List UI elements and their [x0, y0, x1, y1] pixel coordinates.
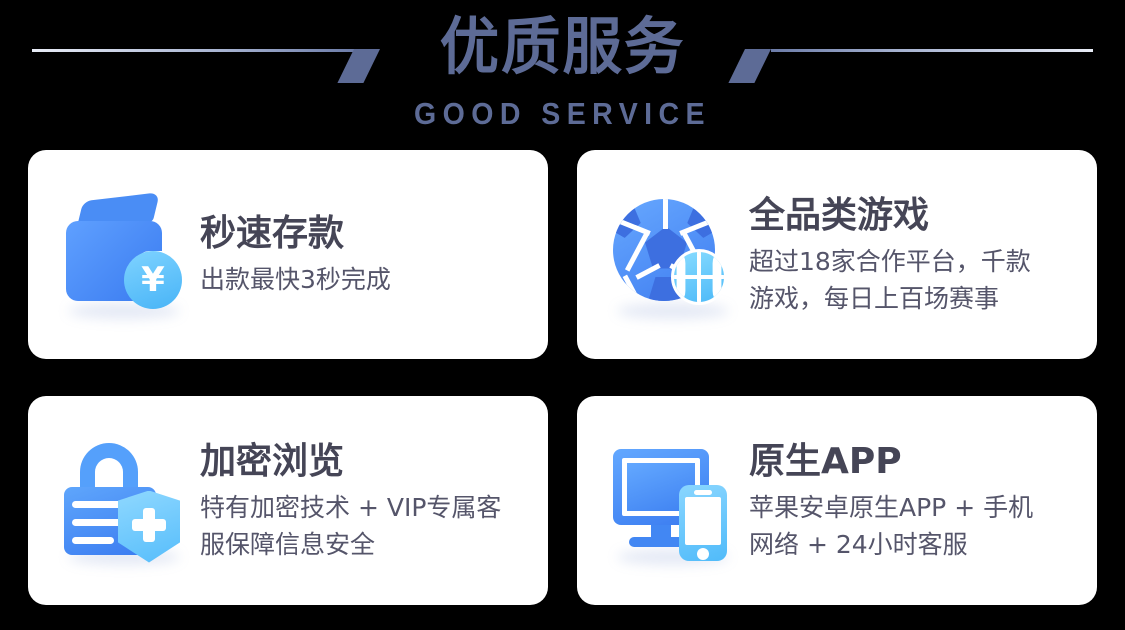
card-description: 出款最快3秒完成 — [200, 261, 530, 298]
basketball-seam — [677, 254, 686, 300]
lock-shield-icon — [62, 439, 186, 563]
card-title: 原生APP — [749, 439, 1079, 485]
page-title-cn: 优质服务 — [23, 8, 1103, 86]
soccer-seam — [635, 263, 660, 280]
yen-coin-icon: ¥ — [124, 251, 182, 309]
card-text-block: 秒速存款 出款最快3秒完成 — [200, 211, 530, 298]
card-title: 全品类游戏 — [749, 193, 1079, 239]
basketball-seam — [713, 254, 722, 300]
icon-shadow — [617, 303, 729, 319]
card-title: 加密浏览 — [200, 439, 530, 485]
card-title: 秒速存款 — [200, 211, 530, 257]
phone-speaker — [694, 490, 712, 495]
page-header: 优质服务 GOOD SERVICE — [0, 0, 1125, 140]
phone-home-button — [697, 548, 709, 560]
page-title-en: GOOD SERVICE — [45, 96, 1080, 132]
soccer-seam — [623, 274, 638, 296]
soccer-basketball-icon — [611, 193, 735, 317]
service-card-deposit[interactable]: ¥ 秒速存款 出款最快3秒完成 — [28, 150, 548, 359]
phone-screen — [685, 497, 721, 545]
card-text-block: 加密浏览 特有加密技术 + VIP专属客服保障信息安全 — [200, 439, 530, 563]
card-text-block: 原生APP 苹果安卓原生APP + 手机网络 + 24小时客服 — [749, 439, 1079, 563]
service-card-encryption[interactable]: 加密浏览 特有加密技术 + VIP专属客服保障信息安全 — [28, 396, 548, 605]
soccer-seam — [625, 230, 650, 271]
lock-stripe — [72, 501, 124, 508]
service-card-grid: ¥ 秒速存款 出款最快3秒完成 — [28, 150, 1097, 605]
plus-icon — [143, 508, 155, 542]
service-card-games[interactable]: 全品类游戏 超过18家合作平台，千款游戏，每日上百场赛事 — [577, 150, 1097, 359]
card-text-block: 全品类游戏 超过18家合作平台，千款游戏，每日上百场赛事 — [749, 193, 1079, 317]
wallet-yen-icon: ¥ — [62, 193, 186, 317]
basketball-icon — [671, 249, 727, 305]
monitor-phone-icon — [611, 439, 735, 563]
card-description: 特有加密技术 + VIP专属客服保障信息安全 — [200, 489, 530, 563]
card-description: 苹果安卓原生APP + 手机网络 + 24小时客服 — [749, 489, 1079, 563]
service-card-native-app[interactable]: 原生APP 苹果安卓原生APP + 手机网络 + 24小时客服 — [577, 396, 1097, 605]
soccer-seam — [663, 199, 668, 229]
card-description: 超过18家合作平台，千款游戏，每日上百场赛事 — [749, 243, 1079, 317]
lock-stripe — [72, 537, 114, 544]
